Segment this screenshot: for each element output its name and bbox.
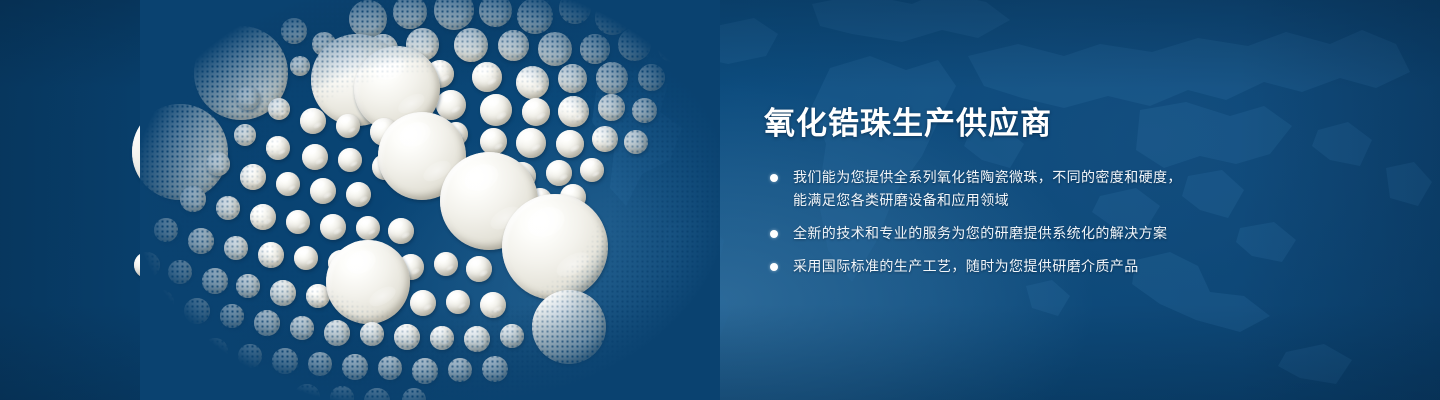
list-item-line: 能满足您各类研磨设备和应用领域 <box>793 189 1234 212</box>
list-item: 全新的技术和专业的服务为您的研磨提供系统化的解决方案 <box>764 222 1234 245</box>
page-title: 氧化锆珠生产供应商 <box>764 104 1234 144</box>
beads-canvas <box>140 0 720 400</box>
banner-content: 氧化锆珠生产供应商 我们能为您提供全系列氧化锆陶瓷微珠，不同的密度和硬度， 能满… <box>764 104 1234 278</box>
hero-banner: 氧化锆珠生产供应商 我们能为您提供全系列氧化锆陶瓷微珠，不同的密度和硬度， 能满… <box>0 0 1440 400</box>
feature-list: 我们能为您提供全系列氧化锆陶瓷微珠，不同的密度和硬度， 能满足您各类研磨设备和应… <box>764 166 1234 278</box>
list-item-line: 我们能为您提供全系列氧化锆陶瓷微珠，不同的密度和硬度， <box>793 166 1234 189</box>
bullet-dot-icon <box>770 263 778 271</box>
bullet-dot-icon <box>770 174 778 182</box>
list-item-line: 采用国际标准的生产工艺，随时为您提供研磨介质产品 <box>793 255 1234 278</box>
list-item-line: 全新的技术和专业的服务为您的研磨提供系统化的解决方案 <box>793 222 1234 245</box>
bullet-dot-icon <box>770 230 778 238</box>
list-item: 采用国际标准的生产工艺，随时为您提供研磨介质产品 <box>764 255 1234 278</box>
list-item: 我们能为您提供全系列氧化锆陶瓷微珠，不同的密度和硬度， 能满足您各类研磨设备和应… <box>764 166 1234 212</box>
zirconia-beads-photo <box>140 0 720 400</box>
